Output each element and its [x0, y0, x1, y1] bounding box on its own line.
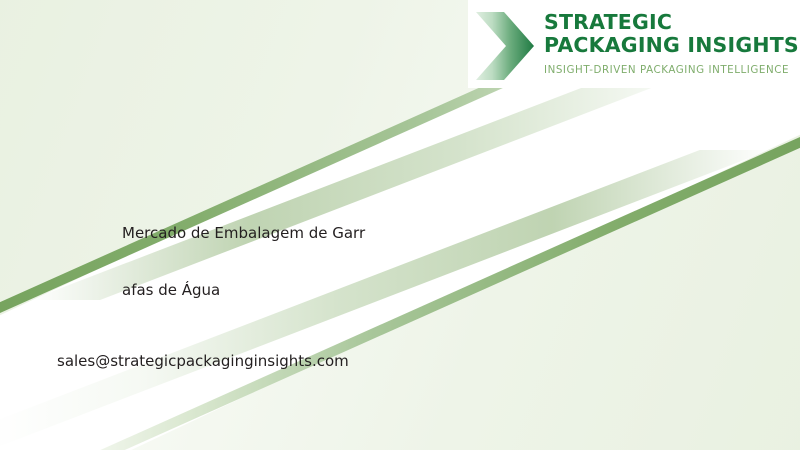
brand-logo: STRATEGIC PACKAGING INSIGHTS INSIGHT-DRI… [468, 0, 800, 88]
report-title-line-2: afas de Água [122, 281, 220, 299]
report-title-line-1: Mercado de Embalagem de Garr [122, 224, 365, 242]
logo-line-strategic: STRATEGIC [544, 11, 799, 34]
title-slide: STRATEGIC PACKAGING INSIGHTS INSIGHT-DRI… [0, 0, 800, 450]
chevron-right-logo-icon [474, 10, 536, 82]
bottom-right-secondary-band [0, 150, 770, 450]
logo-text-block: STRATEGIC PACKAGING INSIGHTS INSIGHT-DRI… [544, 8, 799, 76]
logo-line-packaging-insights: PACKAGING INSIGHTS [544, 34, 799, 57]
contact-email: sales@strategicpackaginginsights.com [57, 352, 349, 370]
logo-tagline: INSIGHT-DRIVEN PACKAGING INTELLIGENCE [544, 64, 799, 76]
